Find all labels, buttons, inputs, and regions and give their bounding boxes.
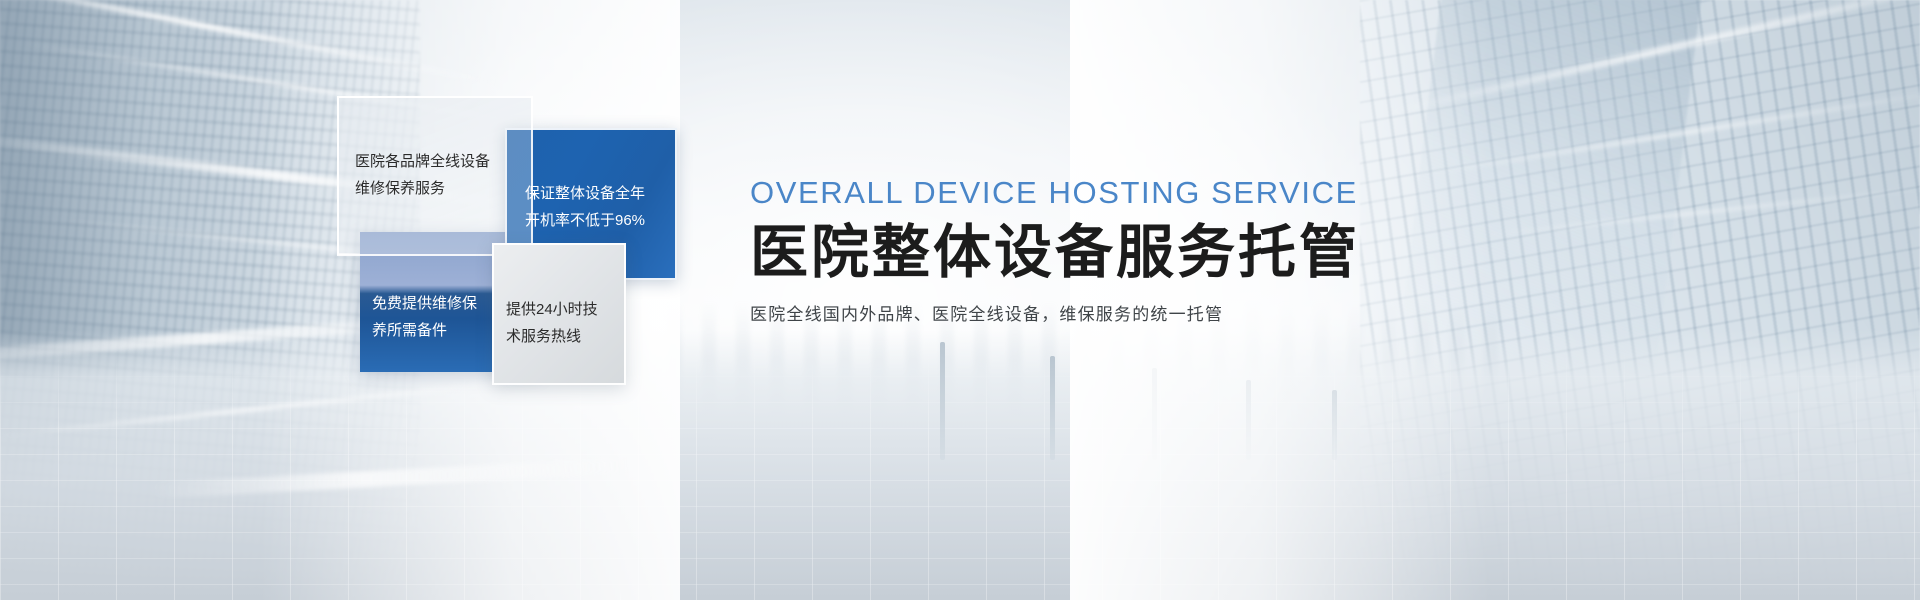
banner-english-title: OVERALL DEVICE HOSTING SERVICE: [750, 174, 1510, 212]
card-uptime-line1: 保证整体设备全年: [525, 180, 665, 207]
card-hotline-line1: 提供24小时技: [506, 296, 618, 323]
card-hotline-line2: 术服务热线: [506, 323, 618, 350]
hero-banner: 医院各品牌全线设备 维修保养服务 保证整体设备全年 开机率不低于96% 免费提供…: [0, 0, 1920, 600]
card-free-parts-text: 免费提供维修保 养所需备件: [372, 290, 522, 344]
card-brand-service-line1: 医院各品牌全线设备: [355, 148, 515, 175]
card-brand-service-line2: 维修保养服务: [355, 175, 515, 202]
banner-subtitle: 医院全线国内外品牌、医院全线设备，维保服务的统一托管: [750, 302, 1510, 328]
banner-copy: OVERALL DEVICE HOSTING SERVICE 医院整体设备服务托…: [750, 174, 1510, 328]
card-free-parts-line2: 养所需备件: [372, 317, 522, 344]
card-hotline-text: 提供24小时技 术服务热线: [506, 296, 618, 350]
card-uptime-line2: 开机率不低于96%: [525, 207, 665, 234]
banner-chinese-title: 医院整体设备服务托管: [750, 218, 1510, 288]
card-uptime-text: 保证整体设备全年 开机率不低于96%: [525, 180, 665, 234]
feature-card-stack: 医院各品牌全线设备 维修保养服务 保证整体设备全年 开机率不低于96% 免费提供…: [0, 0, 800, 600]
card-brand-service-text: 医院各品牌全线设备 维修保养服务: [355, 148, 515, 202]
card-free-parts-line1: 免费提供维修保: [372, 290, 522, 317]
